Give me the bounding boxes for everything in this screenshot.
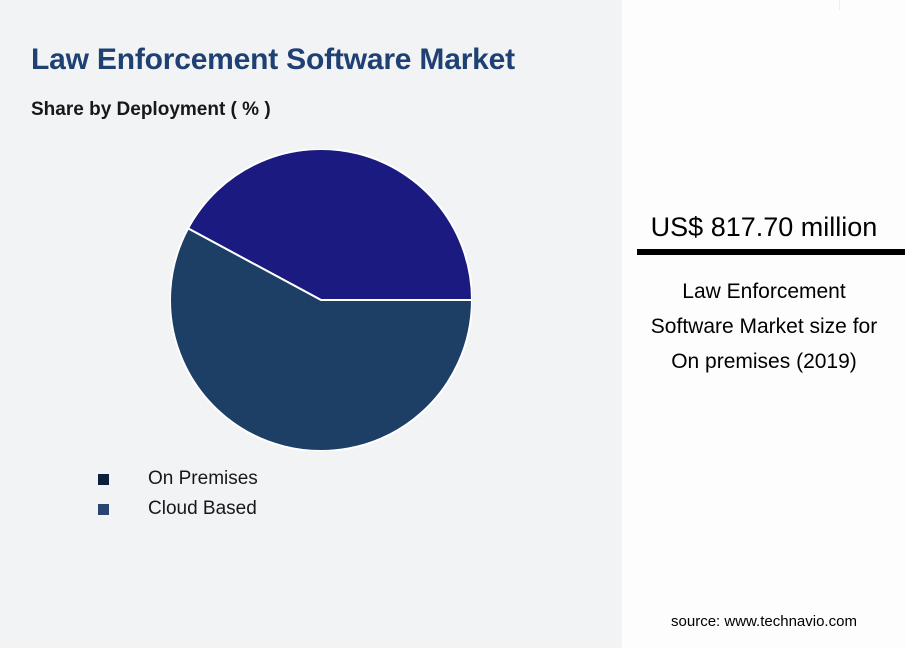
- market-value-headline: US$ 817.70 million: [622, 212, 906, 243]
- value-underline-rule: [637, 249, 905, 255]
- legend-label-cloud-based: Cloud Based: [148, 498, 257, 520]
- page-title: Law Enforcement Software Market: [31, 43, 515, 77]
- legend-swatch-on-premises: [98, 474, 109, 485]
- chart-subtitle: Share by Deployment ( % ): [31, 99, 271, 121]
- pie-chart-svg: [170, 149, 472, 451]
- legend-item-cloud-based[interactable]: Cloud Based: [98, 494, 258, 524]
- panel-divider: [839, 0, 840, 10]
- legend-swatch-cloud-based: [98, 504, 109, 515]
- pie-chart: [170, 149, 472, 451]
- market-value-caption: Law Enforcement Software Market size for…: [640, 274, 888, 379]
- source-note: source: www.technavio.com: [622, 613, 906, 630]
- chart-panel: Law Enforcement Software Market Share by…: [0, 0, 622, 648]
- chart-legend: On Premises Cloud Based: [98, 464, 258, 524]
- legend-label-on-premises: On Premises: [148, 468, 258, 490]
- highlight-panel: US$ 817.70 million Law Enforcement Softw…: [622, 0, 906, 648]
- infographic-canvas: Law Enforcement Software Market Share by…: [0, 0, 906, 648]
- legend-item-on-premises[interactable]: On Premises: [98, 464, 258, 494]
